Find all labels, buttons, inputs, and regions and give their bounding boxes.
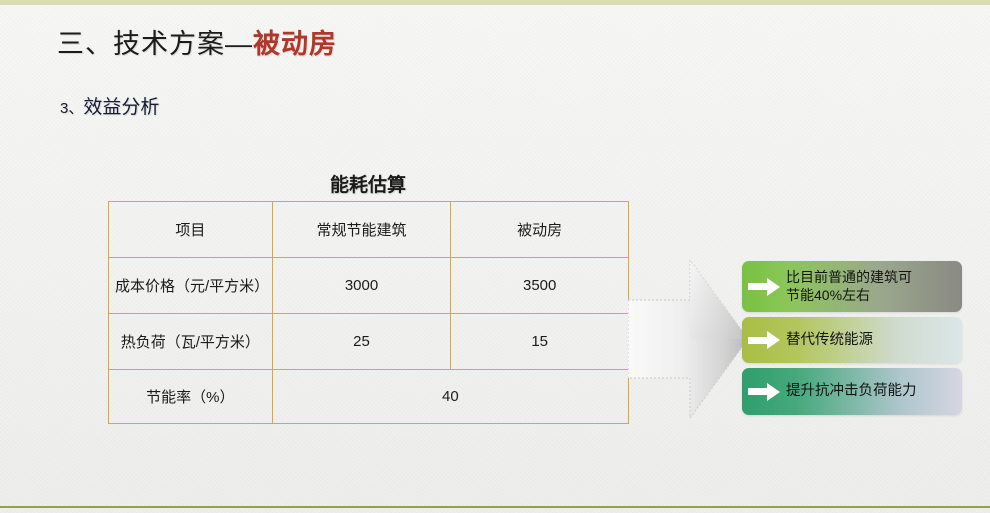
right-arrow-icon bbox=[748, 383, 782, 401]
energy-estimate-table: 项目 常规节能建筑 被动房 成本价格（元/平方米） 3000 3500 热负荷（… bbox=[108, 201, 629, 424]
section-subtitle-number: 3、 bbox=[60, 100, 83, 117]
slide-top-rule bbox=[0, 0, 990, 5]
benefit-box-energy-saving[interactable]: 比目前普通的建筑可 节能40%左右 bbox=[742, 261, 962, 312]
row-label-heatload: 热负荷（瓦/平方米） bbox=[109, 314, 273, 370]
section-subtitle-text: 效益分析 bbox=[83, 97, 159, 118]
right-arrow-icon bbox=[748, 278, 782, 296]
row-value-heatload-passive: 15 bbox=[451, 314, 629, 370]
row-value-savingrate-merged: 40 bbox=[272, 370, 628, 424]
benefit-box-text: 替代传统能源 bbox=[786, 331, 962, 350]
slide-bottom-rule bbox=[0, 506, 990, 508]
table-header-conventional: 常规节能建筑 bbox=[272, 202, 451, 258]
row-label-cost: 成本价格（元/平方米） bbox=[109, 258, 273, 314]
row-label-savingrate: 节能率（%） bbox=[109, 370, 273, 424]
benefit-line-2: 节能40%左右 bbox=[786, 287, 870, 303]
row-value-cost-conventional: 3000 bbox=[272, 258, 451, 314]
table-row: 成本价格（元/平方米） 3000 3500 bbox=[109, 258, 629, 314]
right-arrow-icon bbox=[748, 331, 782, 349]
row-value-heatload-conventional: 25 bbox=[272, 314, 451, 370]
page-title-main: 三、技术方案— bbox=[57, 29, 253, 59]
benefit-box-list: 比目前普通的建筑可 节能40%左右 替代传统能源 提升抗冲击负荷能力 bbox=[742, 261, 962, 418]
table-header-item: 项目 bbox=[109, 202, 273, 258]
page-title-accent: 被动房 bbox=[253, 29, 337, 59]
row-value-cost-passive: 3500 bbox=[451, 258, 629, 314]
benefit-line-1: 比目前普通的建筑可 bbox=[786, 269, 912, 285]
page-title: 三、技术方案—被动房 bbox=[57, 22, 337, 61]
benefit-box-text: 提升抗冲击负荷能力 bbox=[786, 382, 962, 401]
table-header-passive: 被动房 bbox=[451, 202, 629, 258]
table-row: 节能率（%） 40 bbox=[109, 370, 629, 424]
benefit-box-replace-energy[interactable]: 替代传统能源 bbox=[742, 317, 962, 363]
benefit-box-text: 比目前普通的建筑可 节能40%左右 bbox=[786, 269, 962, 305]
right-block-arrow-icon bbox=[628, 258, 750, 420]
benefit-box-impact-load[interactable]: 提升抗冲击负荷能力 bbox=[742, 368, 962, 415]
table-caption: 能耗估算 bbox=[108, 170, 628, 197]
table-header-row: 项目 常规节能建筑 被动房 bbox=[109, 202, 629, 258]
table-row: 热负荷（瓦/平方米） 25 15 bbox=[109, 314, 629, 370]
section-subtitle: 3、效益分析 bbox=[60, 92, 159, 119]
